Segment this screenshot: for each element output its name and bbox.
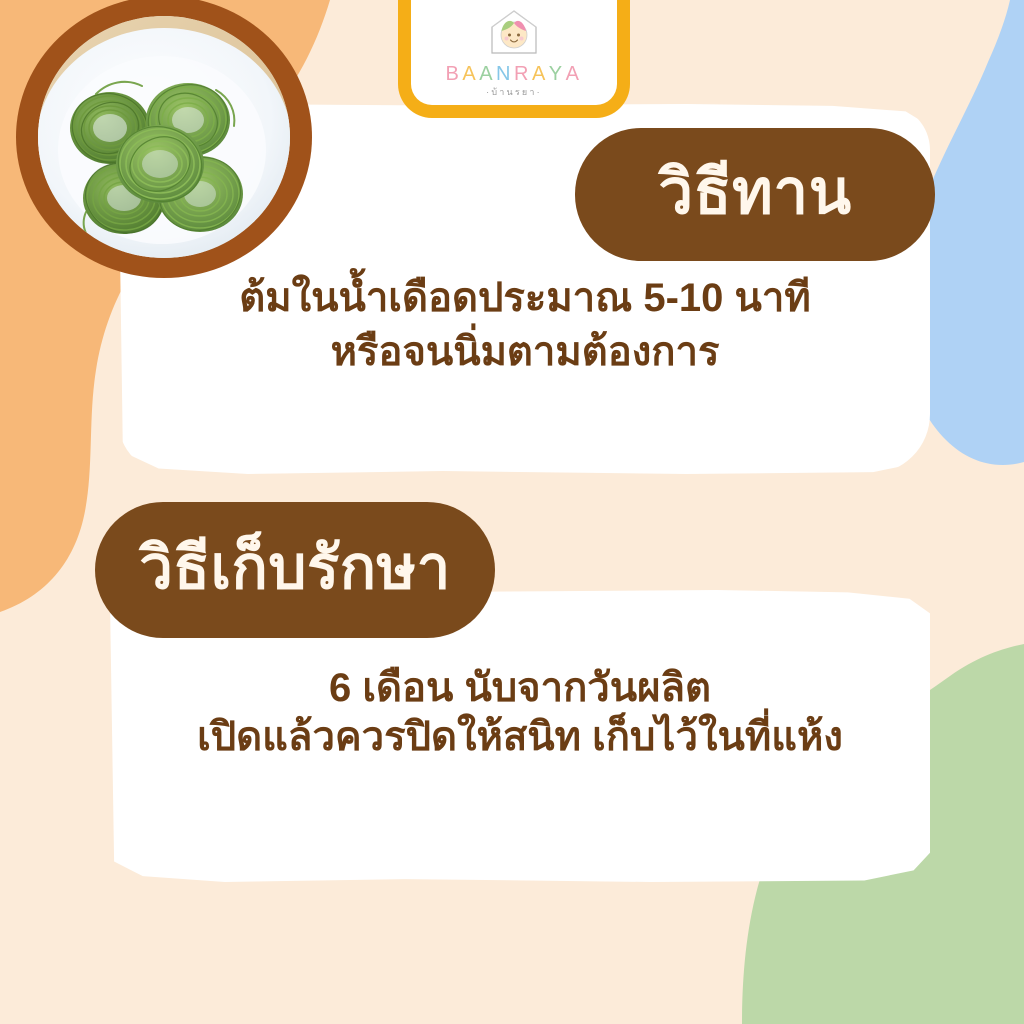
product-photo <box>38 16 290 258</box>
wordmark-letter: A <box>532 64 549 84</box>
heading-text-how-to-store: วิธีเก็บรักษา <box>139 538 451 598</box>
wordmark-letter: A <box>462 64 479 84</box>
heading-badge-how-to-eat: วิธีทาน <box>575 128 935 261</box>
wordmark-letter: A <box>479 64 496 84</box>
house-face-logo-icon <box>486 7 542 62</box>
wordmark-letter: R <box>514 64 532 84</box>
wordmark-letter: B <box>446 64 463 84</box>
body-text-how-to-store: 6 เดือน นับจากวันผลิต เปิดแล้วควรปิดให้ส… <box>120 664 920 762</box>
brand-wordmark: BAANRAYA <box>446 64 583 84</box>
heading-badge-how-to-store: วิธีเก็บรักษา <box>95 502 495 638</box>
wordmark-letter: Y <box>549 64 566 84</box>
product-photo-ring <box>16 0 312 278</box>
product-info-card: วิธีทาน ต้มในน้ำเดือดประมาณ 5-10 นาที หร… <box>0 0 1024 1024</box>
brand-logo-card: BAANRAYA ·บ้านรยา· <box>398 0 630 118</box>
wordmark-letter: A <box>566 64 583 84</box>
heading-text-how-to-eat: วิธีทาน <box>658 162 851 224</box>
brand-subtitle-thai: ·บ้านรยา· <box>486 88 542 97</box>
wordmark-letter: N <box>496 64 514 84</box>
body-text-how-to-eat: ต้มในน้ำเดือดประมาณ 5-10 นาที หรือจนนิ่ม… <box>140 272 910 379</box>
